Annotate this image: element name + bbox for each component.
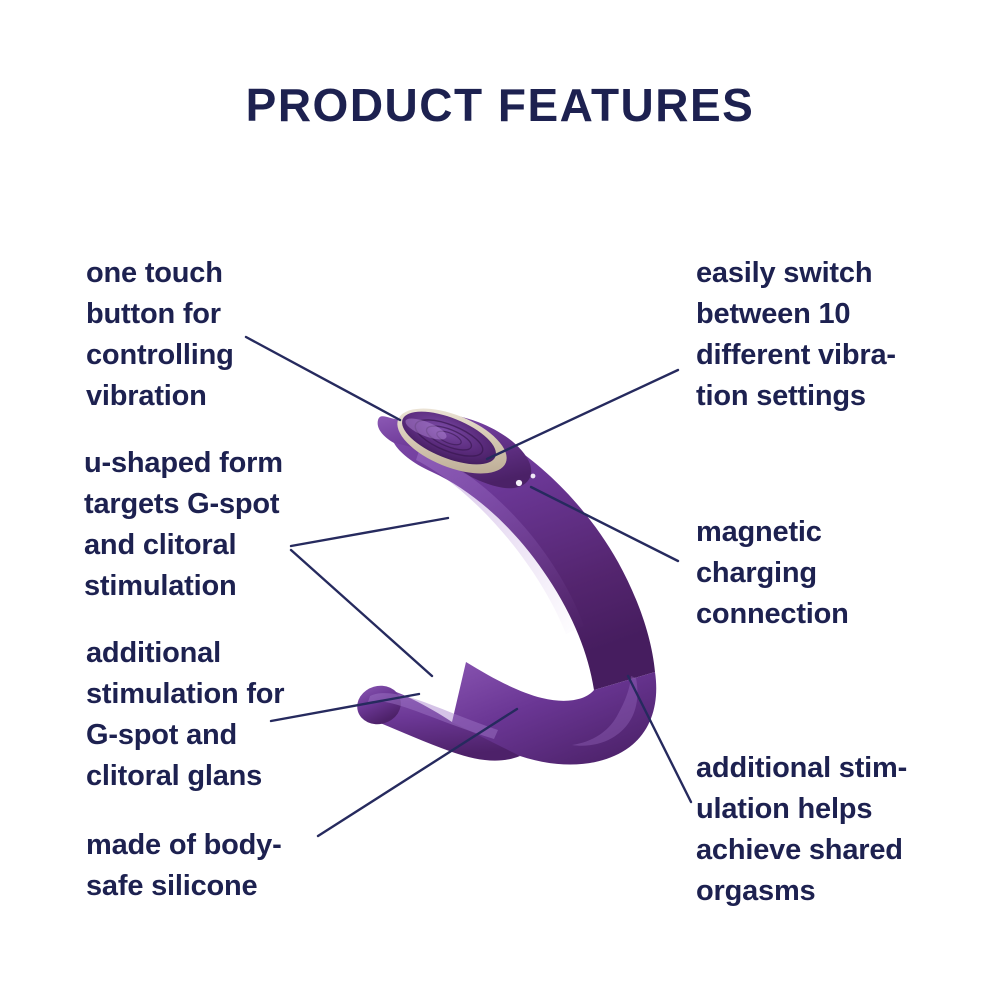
leader-additional-stim	[271, 694, 419, 721]
leader-lines	[0, 0, 1000, 1000]
leader-body-safe	[318, 709, 517, 836]
product-features-infographic: PRODUCT FEATURES	[0, 0, 1000, 1000]
leader-u-shaped-lower	[291, 550, 432, 676]
leader-magnetic-charging	[531, 487, 678, 561]
leader-one-touch-button	[246, 337, 400, 420]
leader-vibration-settings	[487, 370, 678, 459]
leader-u-shaped-upper	[291, 518, 448, 546]
leader-shared-orgasms	[628, 676, 691, 802]
